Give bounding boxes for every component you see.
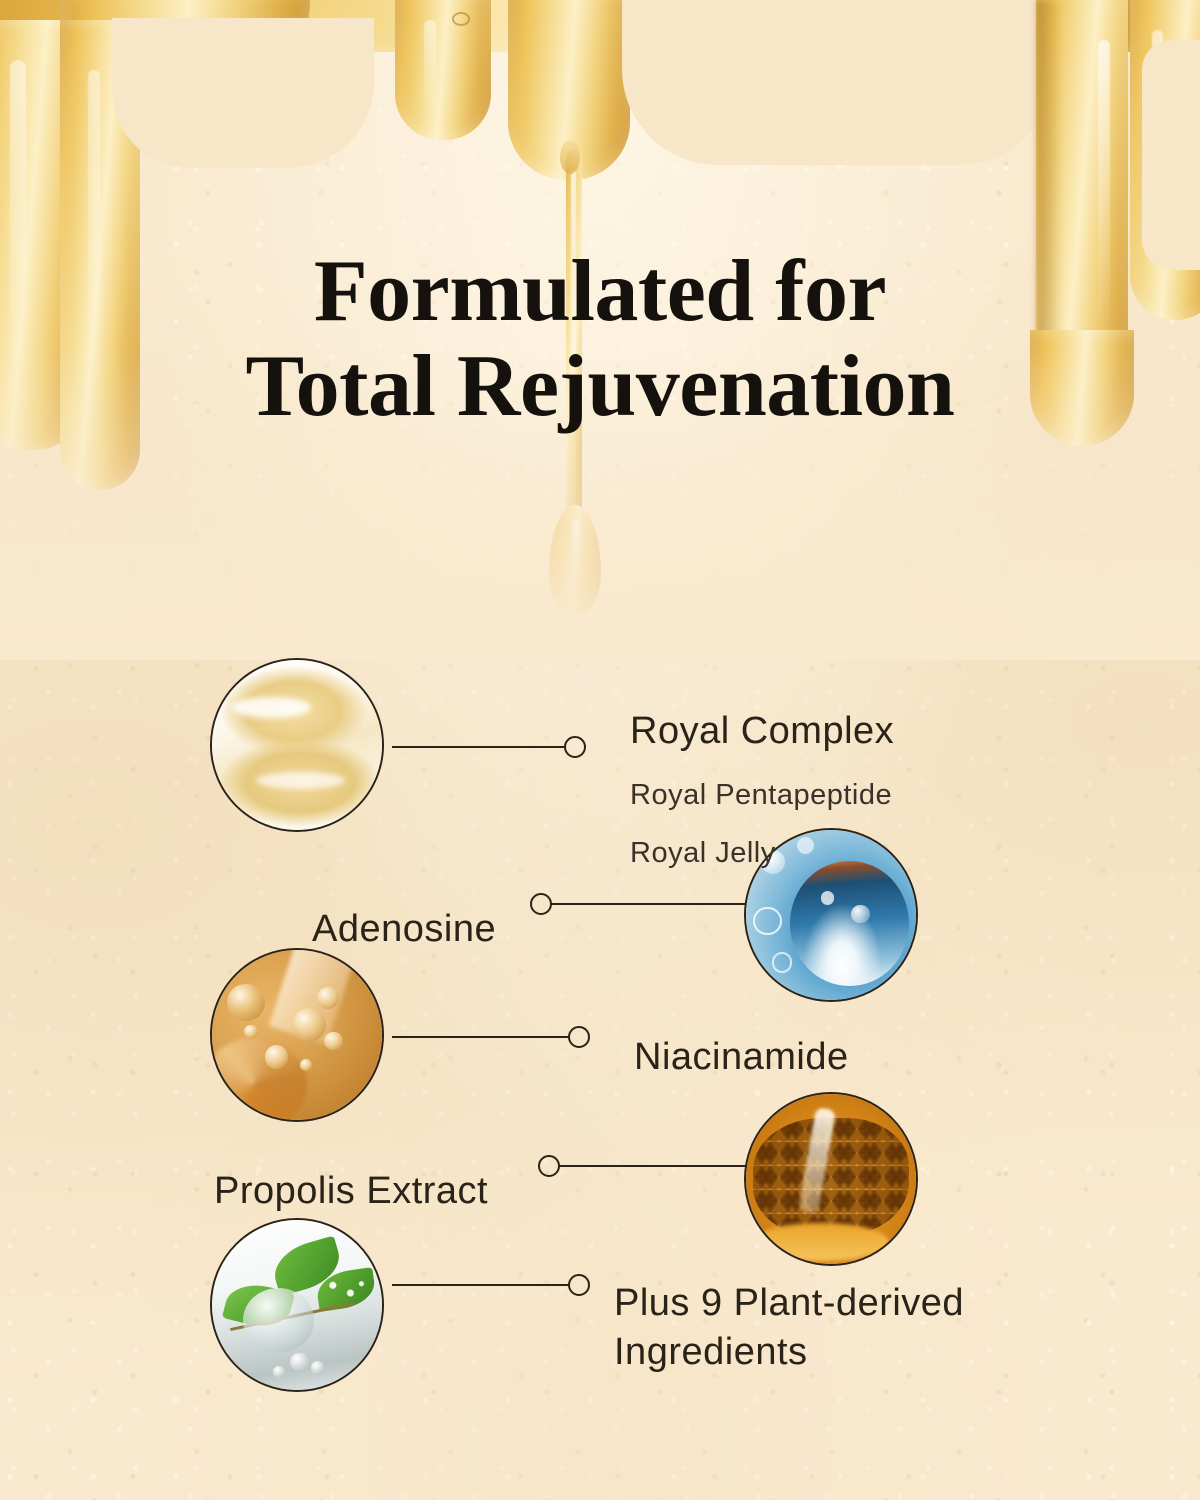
ingredient-title: Niacinamide [634, 1033, 849, 1082]
ingredient-thumbnail-propolis [744, 1092, 918, 1266]
connector-node [538, 1155, 560, 1177]
page-title: Formulated for Total Rejuvenation [0, 244, 1200, 434]
honey-negative-space-left [112, 18, 374, 168]
connector-line [392, 1284, 570, 1286]
cream-highlight-2 [256, 772, 344, 789]
ingredient-title: Adenosine [312, 905, 496, 954]
honey-drip-mid-left [395, 0, 491, 140]
ingredient-label-royal-complex: Royal Complex Royal Pentapeptide Royal J… [630, 686, 894, 894]
product-ingredient-infographic: Formulated for Total Rejuvenation Royal … [0, 0, 1200, 1500]
connector-node [564, 736, 586, 758]
ingredient-label-propolis: Propolis Extract [214, 1146, 488, 1237]
page-title-line-1: Formulated for [314, 243, 886, 340]
ingredient-subitem-2: Royal Jelly [630, 835, 894, 873]
ingredient-thumbnail-plant-derived [210, 1218, 384, 1392]
connector-propolis [538, 1154, 758, 1178]
honey-bubble-speck [452, 12, 470, 26]
honeycomb-pool [753, 1223, 889, 1260]
leaf-dew-specks [324, 1276, 368, 1307]
serum-bubble-e [324, 1032, 343, 1051]
connector-adenosine [530, 892, 752, 916]
ingredient-label-plant-derived: Plus 9 Plant-derived Ingredients [614, 1258, 1034, 1398]
connector-royal-complex [392, 735, 588, 759]
connector-line [392, 746, 566, 748]
ingredient-title: Royal Complex [630, 707, 894, 756]
ingredient-title: Propolis Extract [214, 1167, 488, 1216]
page-title-line-2: Total Rejuvenation [0, 339, 1200, 434]
connector-node [568, 1026, 590, 1048]
water-drop-b [311, 1361, 325, 1375]
connector-node [568, 1274, 590, 1296]
water-drop-a [290, 1353, 309, 1372]
ingredient-label-adenosine: Adenosine [312, 884, 496, 975]
connector-node [530, 893, 552, 915]
connector-niacinamide [392, 1025, 596, 1049]
connector-plant-derived [392, 1273, 596, 1297]
honey-small-droplet-center [560, 140, 580, 174]
ingredient-label-niacinamide: Niacinamide [634, 1012, 849, 1103]
serum-bubble-g [300, 1059, 312, 1071]
droplet-bubble-c [772, 952, 792, 972]
cream-highlight [232, 697, 310, 717]
cream-swatch-image [212, 660, 382, 830]
serum-bubble-a [227, 984, 264, 1021]
connector-line [550, 903, 746, 905]
ingredient-thumbnail-royal-complex [210, 658, 384, 832]
honey-gloss-mid-left [424, 20, 436, 120]
honey-negative-space-center [622, 0, 1052, 165]
droplet-bubble-b [753, 907, 782, 936]
connector-line [392, 1036, 570, 1038]
honey-negative-space-right [1142, 40, 1200, 270]
ingredient-subitem-1: Royal Pentapeptide [630, 777, 894, 815]
serum-bubble-b [292, 1008, 326, 1042]
connector-line [558, 1165, 752, 1167]
water-drop-large [243, 1288, 314, 1353]
ingredient-title: Plus 9 Plant-derived Ingredients [614, 1279, 1034, 1378]
